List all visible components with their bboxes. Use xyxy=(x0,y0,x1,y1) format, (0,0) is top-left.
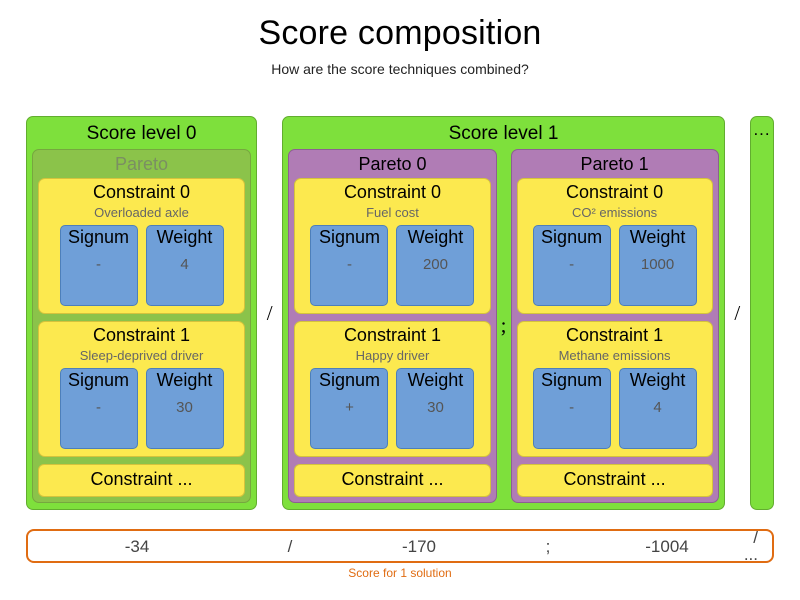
signum-label: Signum xyxy=(68,370,129,391)
score-level-more[interactable]: ... xyxy=(750,116,774,510)
score-level-more-label: ... xyxy=(753,121,770,139)
constraint-more-row[interactable]: Constraint ... xyxy=(517,464,713,497)
constraint-description: Overloaded axle xyxy=(45,206,238,220)
score-level-0[interactable]: Score level 0 Pareto Constraint 0 Overlo… xyxy=(26,116,257,510)
weight-label: Weight xyxy=(157,227,213,248)
score-level-0-body: Pareto Constraint 0 Overloaded axle Sign… xyxy=(32,149,251,503)
constraint-description: CO² emissions xyxy=(524,206,706,220)
score-level-0-title: Score level 0 xyxy=(32,122,251,149)
weight-field[interactable]: Weight 4 xyxy=(146,225,224,306)
signum-value: - xyxy=(569,400,574,415)
score-composition-diagram: Score composition How are the score tech… xyxy=(0,0,800,600)
constraint-title: Constraint 1 xyxy=(524,326,706,346)
score-level-1-body: Pareto 0 Constraint 0 Fuel cost Signum - xyxy=(288,149,718,503)
signum-value: + xyxy=(345,400,354,415)
page-header: Score composition How are the score tech… xyxy=(0,0,800,77)
separator-between-levels: / xyxy=(257,116,282,510)
weight-label: Weight xyxy=(408,227,464,248)
separator-before-ellipsis: / xyxy=(725,116,750,510)
weight-value: 200 xyxy=(423,257,448,272)
constraint-card[interactable]: Constraint 0 Overloaded axle Signum - We… xyxy=(38,178,245,314)
pareto-group-title: Pareto 0 xyxy=(294,154,490,178)
signum-field[interactable]: Signum - xyxy=(60,368,138,449)
weight-label: Weight xyxy=(630,370,686,391)
weight-value: 30 xyxy=(427,400,444,415)
constraint-card[interactable]: Constraint 1 Happy driver Signum + Weigh… xyxy=(294,321,490,457)
weight-field[interactable]: Weight 30 xyxy=(146,368,224,449)
constraint-title: Constraint 0 xyxy=(301,183,483,203)
signum-field[interactable]: Signum - xyxy=(310,225,388,306)
constraint-description: Fuel cost xyxy=(301,206,483,220)
score-level-1-title: Score level 1 xyxy=(288,122,718,149)
weight-field[interactable]: Weight 200 xyxy=(396,225,474,306)
pareto-group-1[interactable]: Pareto 1 Constraint 0 CO² emissions Sign… xyxy=(511,149,719,503)
constraint-card[interactable]: Constraint 0 CO² emissions Signum - Weig… xyxy=(517,178,713,314)
weight-value: 4 xyxy=(180,257,188,272)
constraint-title: Constraint 0 xyxy=(45,183,238,203)
weight-label: Weight xyxy=(157,370,213,391)
score-operator-0: / xyxy=(246,538,334,555)
pareto-group-title: Pareto xyxy=(38,154,245,178)
score-tail: / ... xyxy=(742,529,772,563)
weight-value: 4 xyxy=(653,400,661,415)
constraint-card[interactable]: Constraint 1 Sleep-deprived driver Signu… xyxy=(38,321,245,457)
constraint-description: Methane emissions xyxy=(524,349,706,363)
score-operator-1: ; xyxy=(504,538,592,555)
signum-value: - xyxy=(347,257,352,272)
weight-field[interactable]: Weight 1000 xyxy=(619,225,697,306)
pareto-group-body: Constraint 0 Overloaded axle Signum - We… xyxy=(38,178,245,497)
signum-value: - xyxy=(96,257,101,272)
signum-field[interactable]: Signum - xyxy=(533,368,611,449)
pareto-group-body: Constraint 0 CO² emissions Signum - Weig… xyxy=(517,178,713,497)
constraint-title: Constraint 0 xyxy=(524,183,706,203)
signum-value: - xyxy=(569,257,574,272)
pareto-group-title: Pareto 1 xyxy=(517,154,713,178)
constraint-title: Constraint 1 xyxy=(301,326,483,346)
signum-label: Signum xyxy=(319,370,380,391)
constraint-more-row[interactable]: Constraint ... xyxy=(294,464,490,497)
pareto-group-body: Constraint 0 Fuel cost Signum - Weight 2… xyxy=(294,178,490,497)
score-caption: Score for 1 solution xyxy=(0,566,800,580)
separator-between-paretos: ; xyxy=(497,149,511,503)
constraint-fields: Signum + Weight 30 xyxy=(301,368,483,449)
score-value-level0: -34 xyxy=(28,538,246,555)
weight-label: Weight xyxy=(408,370,464,391)
weight-value: 1000 xyxy=(641,257,674,272)
page-subtitle: How are the score techniques combined? xyxy=(0,61,800,77)
constraint-title: Constraint 1 xyxy=(45,326,238,346)
weight-field[interactable]: Weight 30 xyxy=(396,368,474,449)
score-value-level1-pareto0: -170 xyxy=(334,538,504,555)
score-bar: -34 / -170 ; -1004 / ... xyxy=(26,529,774,563)
signum-value: - xyxy=(96,400,101,415)
constraint-card[interactable]: Constraint 1 Methane emissions Signum - … xyxy=(517,321,713,457)
constraint-description: Sleep-deprived driver xyxy=(45,349,238,363)
weight-value: 30 xyxy=(176,400,193,415)
signum-label: Signum xyxy=(68,227,129,248)
signum-label: Signum xyxy=(319,227,380,248)
signum-field[interactable]: Signum + xyxy=(310,368,388,449)
score-value-level1-pareto1: -1004 xyxy=(592,538,742,555)
signum-label: Signum xyxy=(541,370,602,391)
pareto-group-level0-pareto[interactable]: Pareto Constraint 0 Overloaded axle Sign… xyxy=(32,149,251,503)
signum-field[interactable]: Signum - xyxy=(60,225,138,306)
constraint-fields: Signum - Weight 4 xyxy=(45,225,238,306)
pareto-group-0[interactable]: Pareto 0 Constraint 0 Fuel cost Signum - xyxy=(288,149,496,503)
constraint-fields: Signum - Weight 1000 xyxy=(524,225,706,306)
constraint-description: Happy driver xyxy=(301,349,483,363)
score-levels-row: Score level 0 Pareto Constraint 0 Overlo… xyxy=(26,116,774,510)
constraint-more-row[interactable]: Constraint ... xyxy=(38,464,245,497)
score-level-1[interactable]: Score level 1 Pareto 0 Constraint 0 Fuel… xyxy=(282,116,724,510)
signum-field[interactable]: Signum - xyxy=(533,225,611,306)
signum-label: Signum xyxy=(541,227,602,248)
weight-field[interactable]: Weight 4 xyxy=(619,368,697,449)
constraint-fields: Signum - Weight 30 xyxy=(45,368,238,449)
constraint-fields: Signum - Weight 4 xyxy=(524,368,706,449)
constraint-card[interactable]: Constraint 0 Fuel cost Signum - Weight 2… xyxy=(294,178,490,314)
constraint-fields: Signum - Weight 200 xyxy=(301,225,483,306)
page-title: Score composition xyxy=(0,14,800,53)
weight-label: Weight xyxy=(630,227,686,248)
